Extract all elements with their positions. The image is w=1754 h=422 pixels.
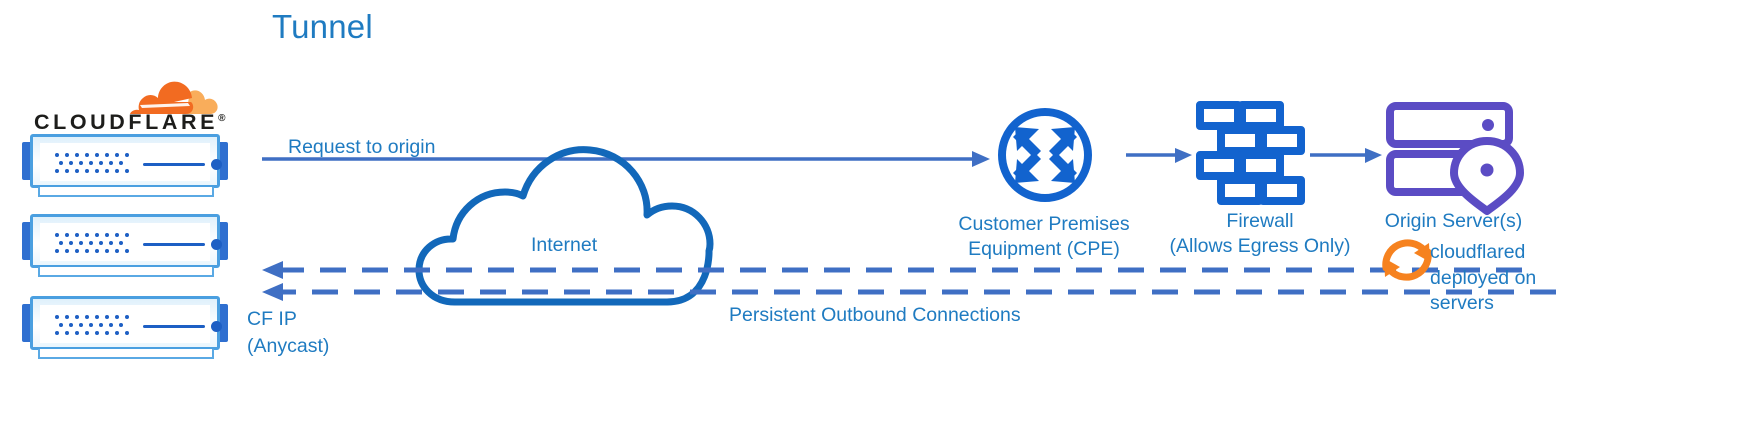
node-label-cpe: Customer Premises Equipment (CPE) bbox=[948, 212, 1140, 262]
sync-arrows-icon bbox=[1384, 243, 1430, 277]
rack-base bbox=[38, 349, 214, 359]
brick-wall-icon bbox=[1200, 105, 1301, 201]
cloudflare-wordmark-text: CLOUDFLARE bbox=[34, 110, 218, 134]
cloud-icon bbox=[419, 150, 710, 302]
rack-status-line bbox=[143, 325, 205, 328]
node-label-cloudflared: cloudflared deployed on servers bbox=[1430, 240, 1550, 317]
node-label-cloudflared-line2: deployed on bbox=[1430, 266, 1550, 292]
rack-body bbox=[30, 214, 220, 268]
rack-body bbox=[30, 296, 220, 350]
server-rack-icon bbox=[22, 214, 228, 280]
node-label-cloudflared-line1: cloudflared bbox=[1430, 240, 1550, 266]
rack-body bbox=[30, 134, 220, 188]
rack-faceplate bbox=[40, 143, 210, 181]
server-rack-icon bbox=[22, 296, 228, 362]
node-label-cpe-line1: Customer Premises bbox=[948, 212, 1140, 237]
rack-base bbox=[38, 187, 214, 197]
rack-led-icon bbox=[211, 159, 222, 170]
cpe-four-arrows-icon bbox=[1002, 112, 1088, 198]
diagram-canvas: Tunnel CLOUDFLARE® bbox=[0, 0, 1754, 422]
node-label-origin: Origin Server(s) bbox=[1376, 209, 1531, 234]
node-label-firewall-line1: Firewall bbox=[1162, 209, 1358, 234]
rack-status-line bbox=[143, 163, 205, 166]
connector-cpe-to-firewall bbox=[1126, 148, 1192, 163]
connector-firewall-to-origin bbox=[1310, 148, 1382, 163]
origin-server-pin-icon bbox=[1390, 106, 1520, 211]
rack-status-line bbox=[143, 243, 205, 246]
node-label-firewall-line2: (Allows Egress Only) bbox=[1162, 234, 1358, 259]
connector-label-persistent-outbound: Persistent Outbound Connections bbox=[729, 303, 1021, 328]
page-title: Tunnel bbox=[272, 8, 373, 46]
rack-led-icon bbox=[211, 321, 222, 332]
rack-base bbox=[38, 267, 214, 277]
rack-faceplate bbox=[40, 223, 210, 261]
node-label-cloudflared-line3: servers bbox=[1430, 291, 1550, 317]
node-label-firewall: Firewall (Allows Egress Only) bbox=[1162, 209, 1358, 259]
trademark-symbol: ® bbox=[218, 113, 225, 124]
rack-faceplate bbox=[40, 305, 210, 343]
node-label-cpe-line2: Equipment (CPE) bbox=[948, 237, 1140, 262]
server-rack-icon bbox=[22, 134, 228, 200]
cloudflare-wordmark: CLOUDFLARE® bbox=[34, 110, 225, 135]
node-label-cf-ip-line2: (Anycast) bbox=[247, 333, 329, 360]
node-label-internet: Internet bbox=[531, 233, 597, 258]
connector-persistent-outbound bbox=[262, 261, 1556, 301]
connector-label-request: Request to origin bbox=[288, 135, 435, 160]
node-label-cf-ip-line1: CF IP bbox=[247, 306, 329, 333]
rack-led-icon bbox=[211, 239, 222, 250]
node-label-cf-ip: CF IP (Anycast) bbox=[247, 306, 329, 360]
